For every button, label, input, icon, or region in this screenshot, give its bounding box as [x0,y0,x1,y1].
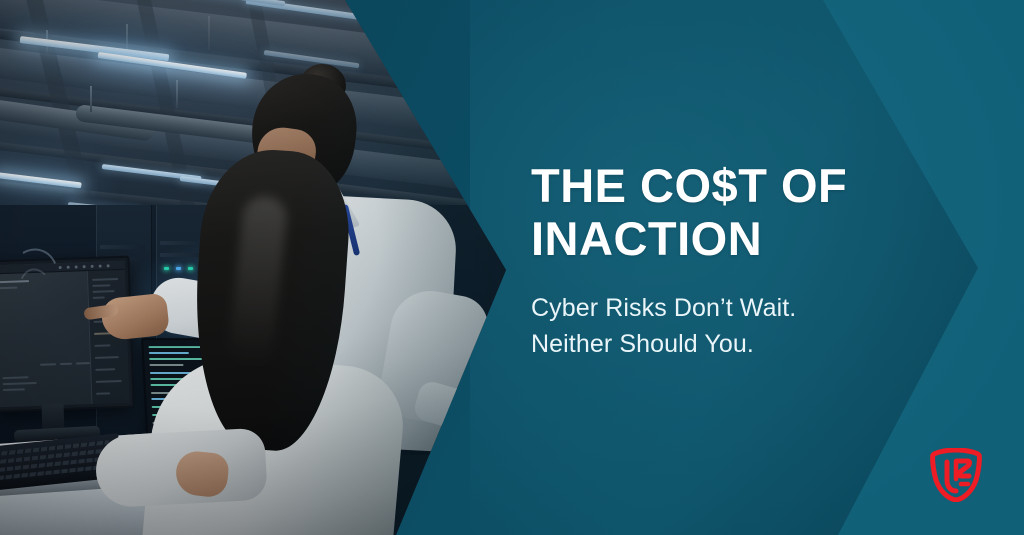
copy-block: THE CO$T OF INACTION Cyber Risks Don’t W… [531,160,931,362]
headline: THE CO$T OF INACTION [531,160,931,265]
shield-monogram-logo [930,448,982,502]
subheadline: Cyber Risks Don’t Wait. Neither Should Y… [531,291,931,362]
marketing-banner: THE CO$T OF INACTION Cyber Risks Don’t W… [0,0,1024,535]
pointing-hand [100,293,170,342]
